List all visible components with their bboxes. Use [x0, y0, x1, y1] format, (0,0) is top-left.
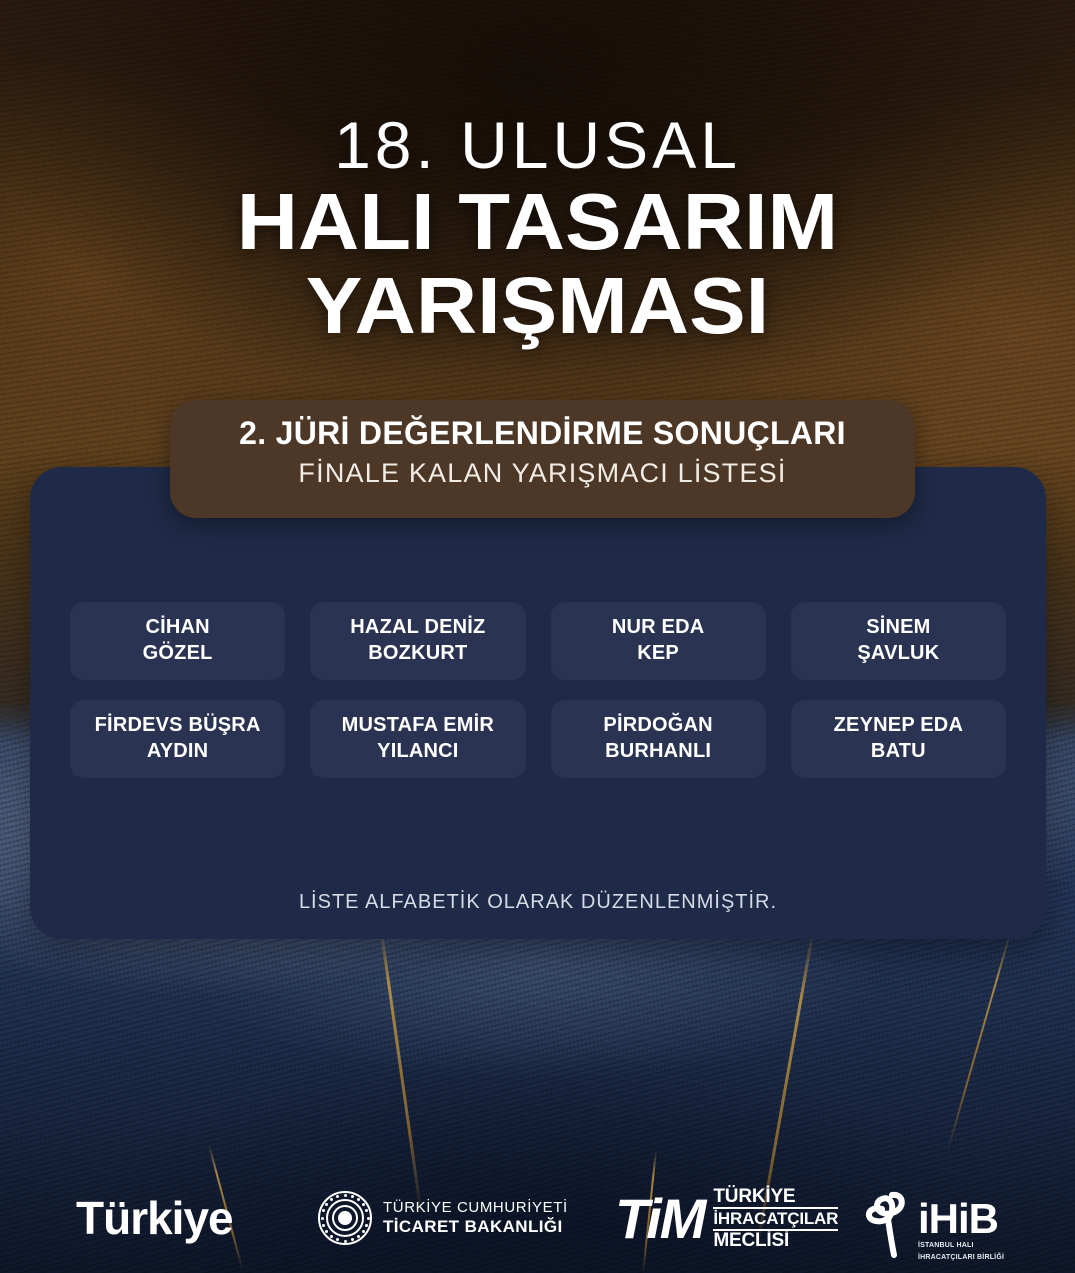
- finalist-card: PİRDOĞAN BURHANLI: [551, 700, 766, 778]
- tim-text: TÜRKİYE İHRACATÇILAR MECLİSİ: [713, 1187, 838, 1251]
- tim-line-3: MECLİSİ: [713, 1231, 838, 1251]
- finalist-card: CİHAN GÖZEL: [70, 602, 285, 680]
- tim-logo: TiM TÜRKİYE İHRACATÇILAR MECLİSİ: [615, 1187, 838, 1251]
- turkiye-logo: Türkiye: [76, 1191, 233, 1245]
- banner-subheading: FİNALE KALAN YARIŞMACI LİSTESİ: [170, 458, 915, 490]
- poster-canvas: 18. ULUSAL HALI TASARIM YARIŞMASI CİHAN …: [0, 0, 1075, 1273]
- tim-wordmark: TiM: [615, 1191, 704, 1247]
- finalist-card: FİRDEVS BÜŞRA AYDIN: [70, 700, 285, 778]
- title-line-edition: 18. ULUSAL: [0, 112, 1075, 179]
- finalist-name: NUR EDA KEP: [612, 615, 705, 666]
- title-line-main-2: YARIŞMASI: [0, 265, 1075, 347]
- finalist-name: SİNEM ŞAVLUK: [857, 615, 939, 666]
- ihib-logo: iHiB İSTANBUL HALI İHRACATÇILARI BİRLİĞİ: [862, 1185, 1004, 1262]
- finalist-card: NUR EDA KEP: [551, 602, 766, 680]
- ihib-wordmark: iHiB: [918, 1199, 1004, 1239]
- ihib-subtitle-2: İHRACATÇILARI BİRLİĞİ: [918, 1254, 1004, 1263]
- ihib-text: iHiB İSTANBUL HALI İHRACATÇILARI BİRLİĞİ: [918, 1185, 1004, 1262]
- finalist-card: ZEYNEP EDA BATU: [791, 700, 1006, 778]
- finalist-card: HAZAL DENİZ BOZKURT: [310, 602, 525, 680]
- title-line-main-1: HALI TASARIM: [0, 181, 1075, 263]
- finalist-name: FİRDEVS BÜŞRA AYDIN: [95, 713, 261, 764]
- finalists-grid: CİHAN GÖZEL HAZAL DENİZ BOZKURT NUR EDA …: [70, 602, 1006, 778]
- ministry-line-2: TİCARET BAKANLIĞI: [383, 1217, 568, 1236]
- alphabetical-note: LİSTE ALFABETİK OLARAK DÜZENLENMİŞTİR.: [30, 891, 1046, 914]
- tim-line-1: TÜRKİYE: [713, 1187, 838, 1207]
- ihib-knot-icon: [862, 1185, 914, 1259]
- republic-emblem-icon: [318, 1191, 372, 1245]
- finalist-name: PİRDOĞAN BURHANLI: [603, 713, 712, 764]
- ticaret-bakanligi-logo: TÜRKİYE CUMHURİYETİ TİCARET BAKANLIĞI: [318, 1191, 568, 1245]
- finalist-card: SİNEM ŞAVLUK: [791, 602, 1006, 680]
- tim-line-2: İHRACATÇILAR: [713, 1207, 838, 1231]
- finalist-name: ZEYNEP EDA BATU: [834, 713, 963, 764]
- banner-heading: 2. JÜRİ DEĞERLENDİRME SONUÇLARI: [170, 416, 915, 452]
- ministry-line-1: TÜRKİYE CUMHURİYETİ: [383, 1200, 568, 1217]
- finalists-panel: CİHAN GÖZEL HAZAL DENİZ BOZKURT NUR EDA …: [30, 467, 1046, 939]
- poster-title: 18. ULUSAL HALI TASARIM YARIŞMASI: [0, 112, 1075, 347]
- finalist-card: MUSTAFA EMİR YILANCI: [310, 700, 525, 778]
- ihib-subtitle-1: İSTANBUL HALI: [918, 1242, 1004, 1251]
- finalist-name: CİHAN GÖZEL: [143, 615, 213, 666]
- results-banner: 2. JÜRİ DEĞERLENDİRME SONUÇLARI FİNALE K…: [170, 400, 915, 518]
- finalist-name: HAZAL DENİZ BOZKURT: [350, 615, 485, 666]
- finalist-name: MUSTAFA EMİR YILANCI: [342, 713, 494, 764]
- footer-logos: Türkiye TÜRKİYE CUMHURİYETİ TİCARET BAKA…: [0, 1185, 1075, 1273]
- ticaret-bakanligi-text: TÜRKİYE CUMHURİYETİ TİCARET BAKANLIĞI: [383, 1200, 568, 1236]
